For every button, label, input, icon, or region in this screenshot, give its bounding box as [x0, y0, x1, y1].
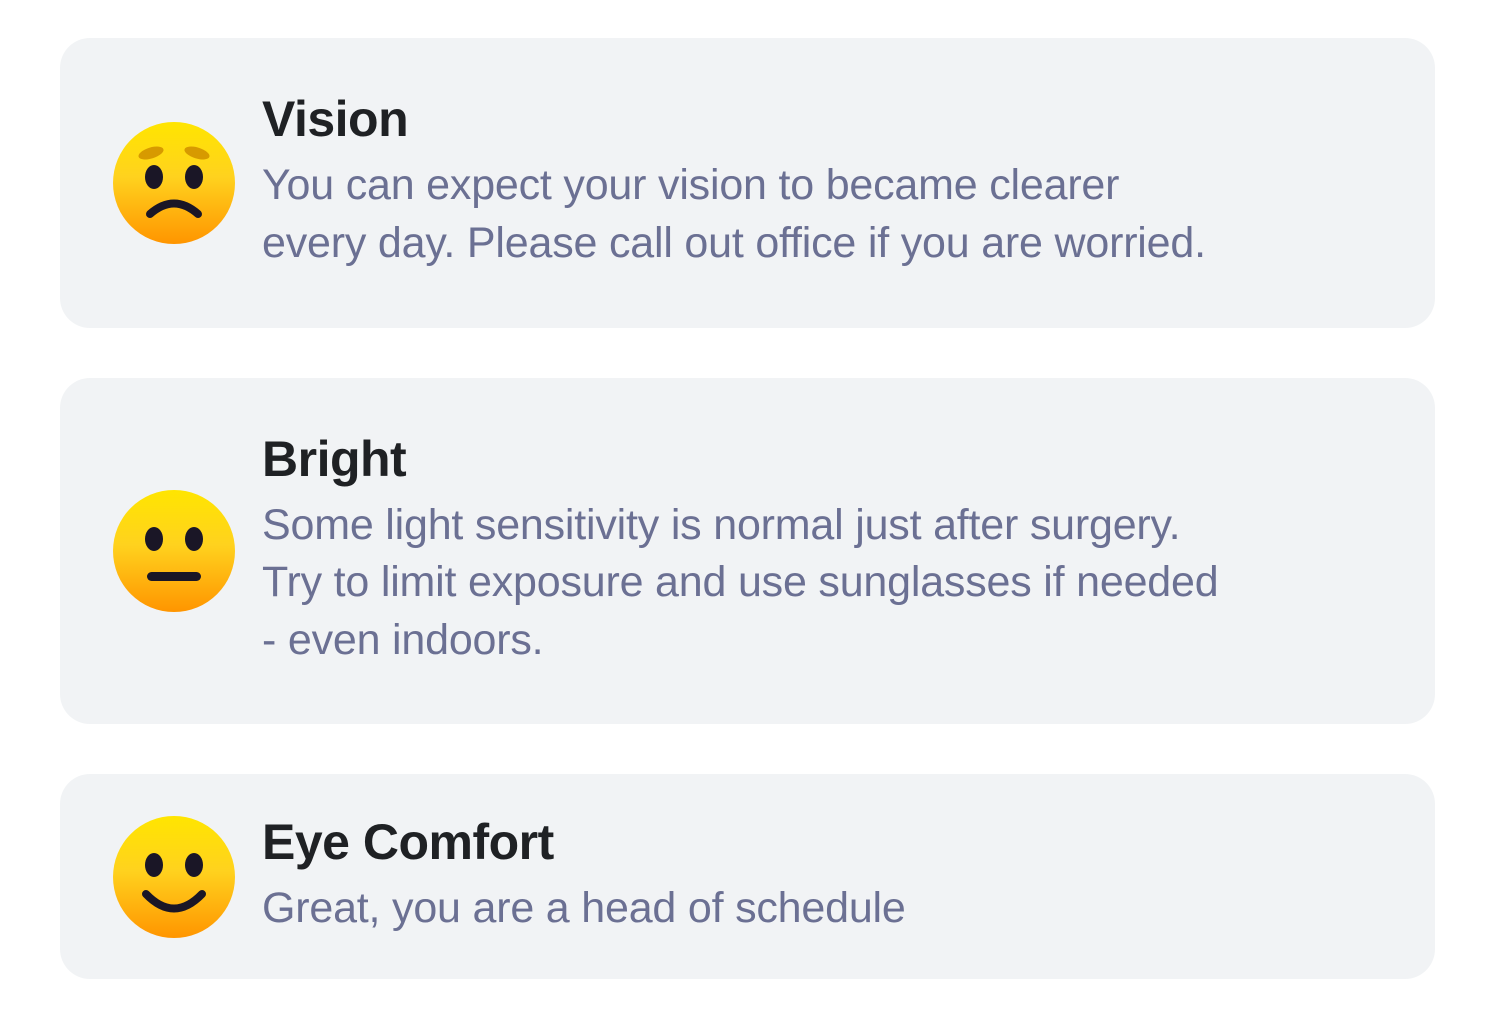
card-title: Bright: [262, 433, 1395, 485]
card-description: You can expect your vision to became cle…: [262, 157, 1395, 272]
emoji-slot: [94, 119, 254, 247]
card-title: Vision: [262, 93, 1395, 145]
card-description: Great, you are a head of schedule: [262, 880, 1395, 938]
card-body: Bright Some light sensitivity is normal …: [254, 433, 1395, 670]
card-body: Vision You can expect your vision to bec…: [254, 93, 1395, 272]
status-card-vision[interactable]: Vision You can expect your vision to bec…: [60, 38, 1435, 328]
status-card-bright[interactable]: Bright Some light sensitivity is normal …: [60, 378, 1435, 724]
card-description-line: You can expect your vision to became cle…: [262, 157, 1395, 215]
worried-face-emoji: [110, 119, 238, 247]
status-card-list: Vision You can expect your vision to bec…: [60, 38, 1435, 979]
smiling-face-emoji: [110, 813, 238, 941]
card-description: Some light sensitivity is normal just af…: [262, 497, 1395, 670]
card-body: Eye Comfort Great, you are a head of sch…: [254, 816, 1395, 938]
emoji-slot: [94, 487, 254, 615]
card-description-line: Some light sensitivity is normal just af…: [262, 497, 1395, 555]
neutral-face-emoji: [110, 487, 238, 615]
card-title: Eye Comfort: [262, 816, 1395, 868]
status-card-eye-comfort[interactable]: Eye Comfort Great, you are a head of sch…: [60, 774, 1435, 979]
card-description-line: Great, you are a head of schedule: [262, 880, 1395, 938]
card-description-line: - even indoors.: [262, 612, 1395, 670]
card-description-line: Try to limit exposure and use sunglasses…: [262, 554, 1395, 612]
emoji-slot: [94, 813, 254, 941]
card-description-line: every day. Please call out office if you…: [262, 215, 1395, 273]
